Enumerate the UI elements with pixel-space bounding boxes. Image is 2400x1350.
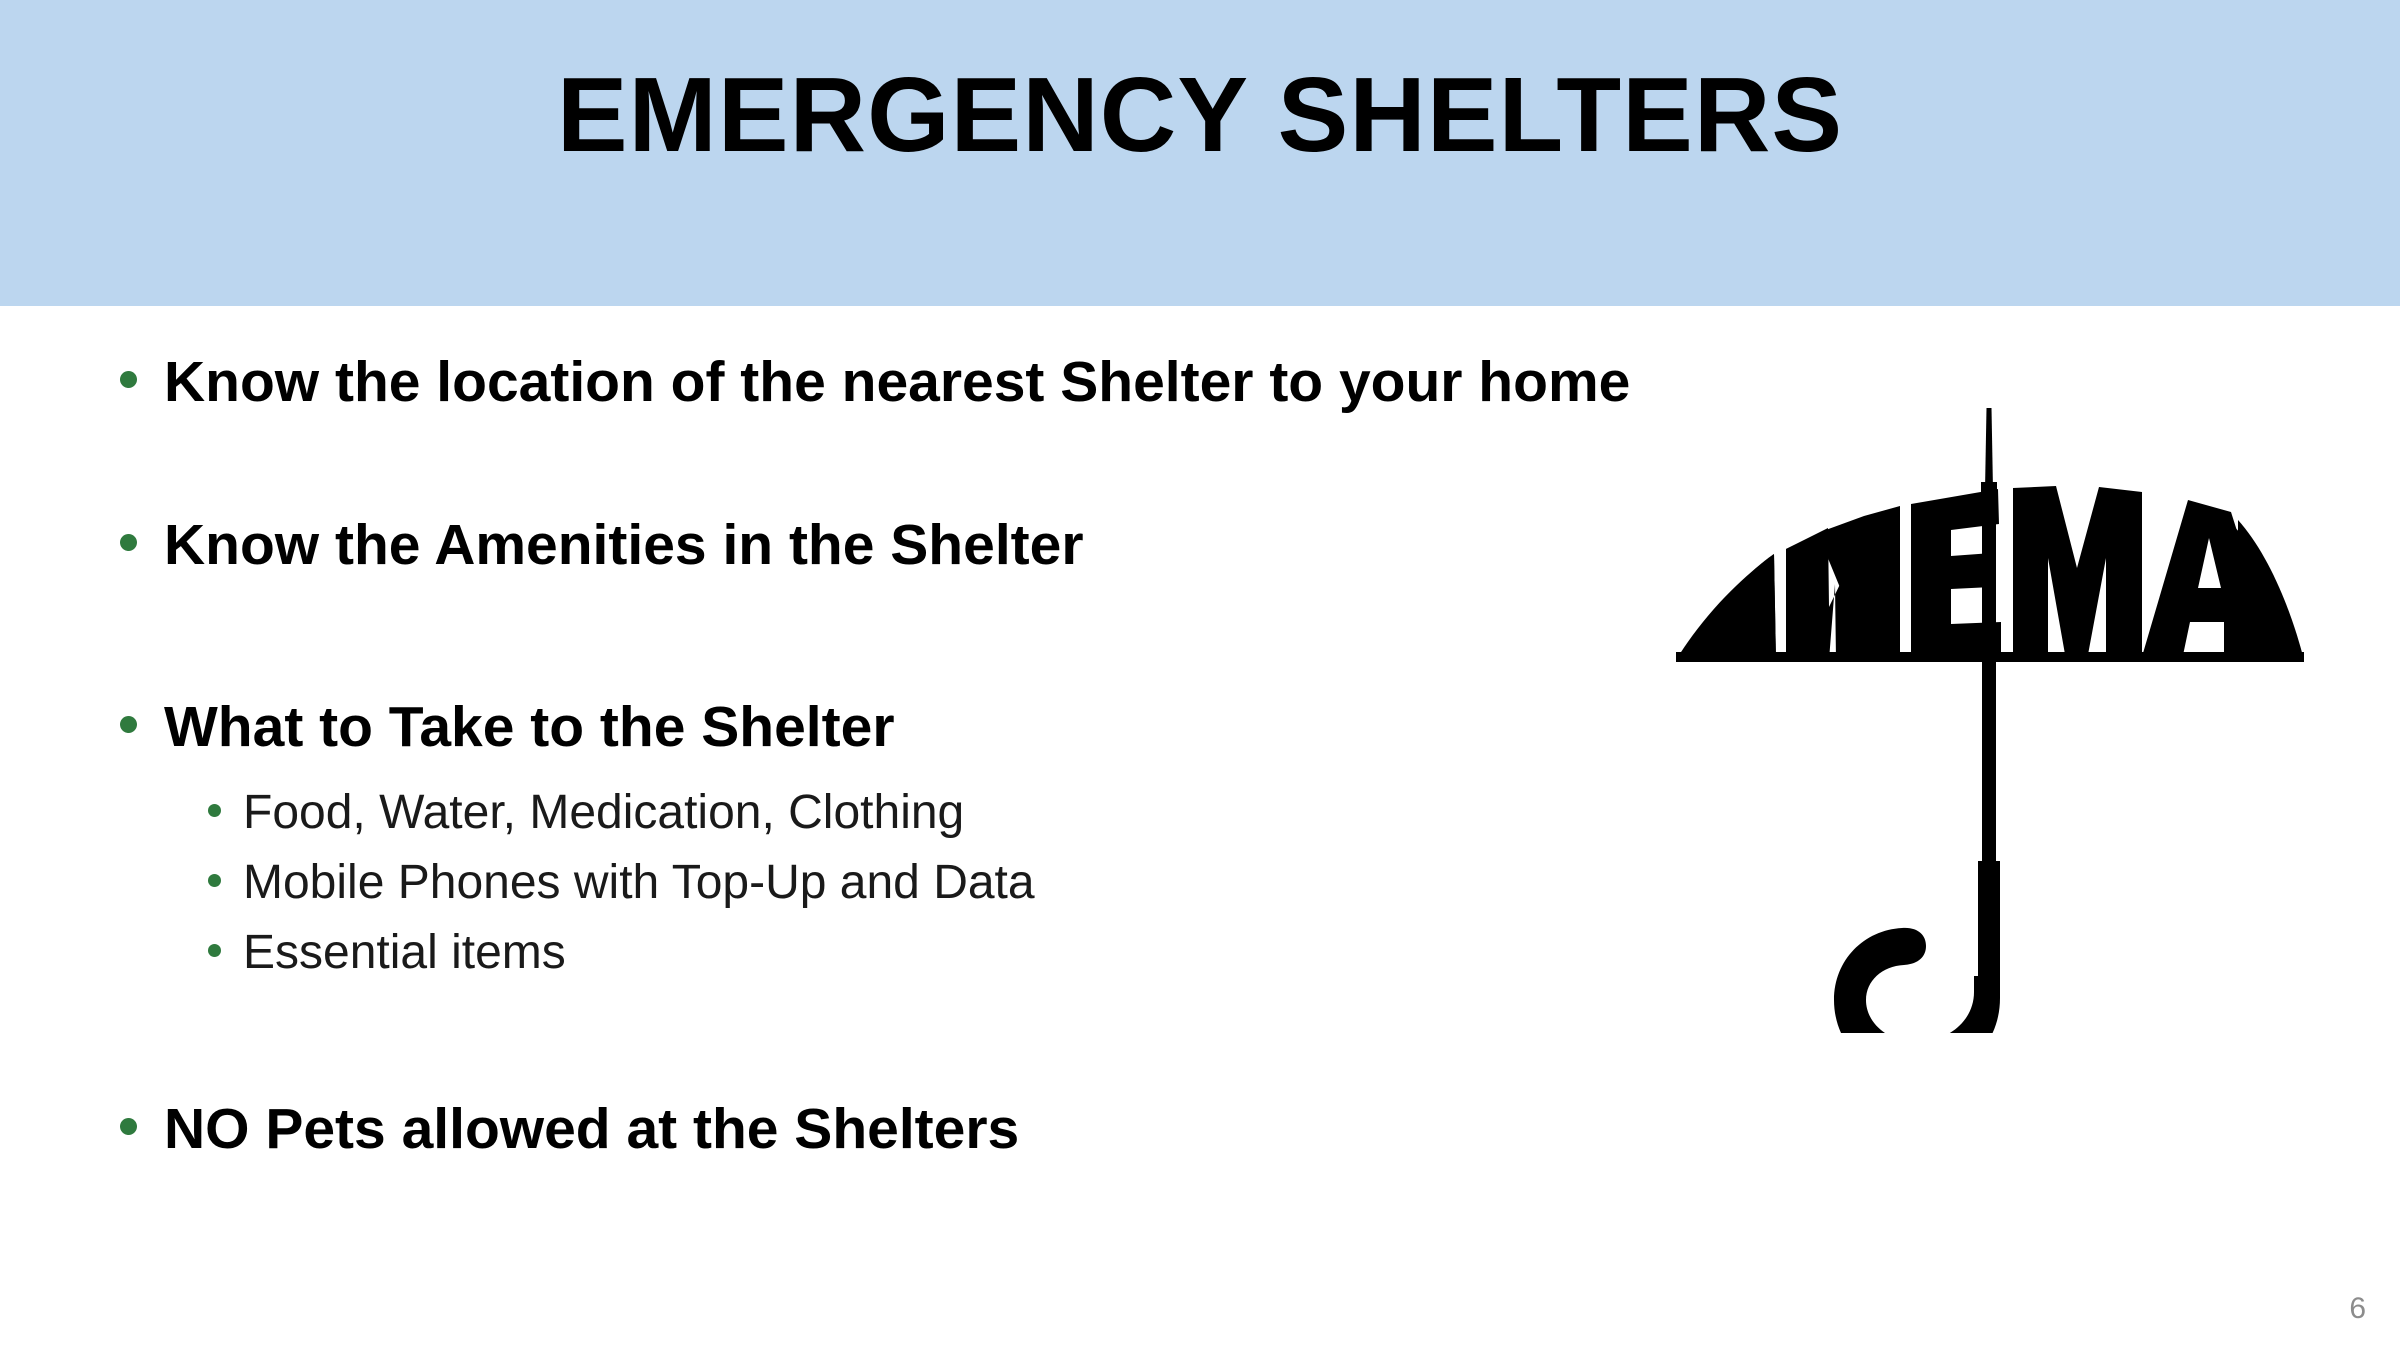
sub-list-item: Essential items: [208, 924, 566, 982]
list-item: Know the Amenities in the Shelter: [120, 511, 1084, 579]
list-item: NO Pets allowed at the Shelters: [120, 1095, 1019, 1163]
bullet-dot-icon: [120, 371, 137, 388]
bullet-dot-icon: [120, 1118, 137, 1135]
list-item-label: Know the location of the nearest Shelter…: [164, 348, 1630, 416]
bullet-dot-icon: [208, 874, 221, 887]
slide-canvas: EMERGENCY SHELTERS Know the location of …: [0, 0, 2400, 1350]
list-item-label: Know the Amenities in the Shelter: [164, 511, 1084, 579]
bullet-dot-icon: [208, 944, 221, 957]
page-number: 6: [2349, 1292, 2366, 1326]
sub-list-item-label: Food, Water, Medication, Clothing: [243, 784, 964, 842]
bullet-dot-icon: [120, 716, 137, 733]
sub-list-item-label: Essential items: [243, 924, 566, 982]
list-item: Know the location of the nearest Shelter…: [120, 348, 1630, 416]
list-item-label: What to Take to the Shelter: [164, 693, 895, 761]
page-title: EMERGENCY SHELTERS: [0, 55, 2400, 175]
nema-umbrella-logo: [1668, 408, 2308, 1033]
bullet-dot-icon: [120, 534, 137, 551]
bullet-list: Know the location of the nearest Shelter…: [0, 306, 1700, 1350]
sub-list-item-label: Mobile Phones with Top-Up and Data: [243, 854, 1035, 912]
list-item: What to Take to the Shelter: [120, 693, 895, 761]
sub-list-item: Food, Water, Medication, Clothing: [208, 784, 964, 842]
bullet-dot-icon: [208, 804, 221, 817]
sub-list-item: Mobile Phones with Top-Up and Data: [208, 854, 1035, 912]
list-item-label: NO Pets allowed at the Shelters: [164, 1095, 1019, 1163]
title-band: EMERGENCY SHELTERS: [0, 0, 2400, 306]
